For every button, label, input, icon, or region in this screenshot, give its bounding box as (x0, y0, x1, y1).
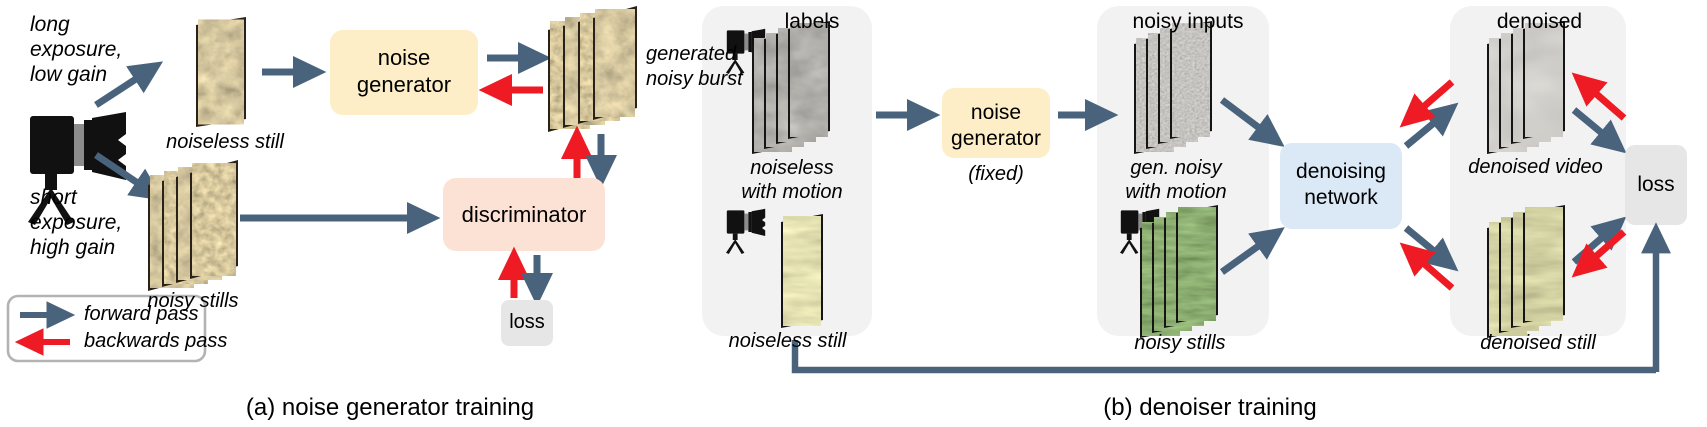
annotation-long-exposure: longexposure,low gain (30, 12, 122, 87)
label-discriminator: discriminator (443, 202, 605, 228)
arrow-denoised-still-to-denoiser-back (1406, 248, 1452, 288)
image-noisy-stills (148, 160, 238, 291)
label-denoising-network: denoisingnetwork (1280, 159, 1402, 211)
caption-noiseless-still: noiseless still (140, 131, 310, 154)
group-title-noisy-inputs: noisy inputs (1113, 10, 1263, 34)
group-title-labels: labels (752, 10, 872, 34)
diagram-canvas (0, 0, 1707, 427)
image-noiseless-still (196, 17, 246, 127)
image-generated-noisy-burst (548, 6, 637, 132)
panel-b-caption: (b) denoiser training (1000, 394, 1420, 422)
panel-a-caption: (a) noise generator training (170, 394, 610, 422)
label-loss-b: loss (1625, 173, 1687, 197)
annotation-short-exposure: shortexposure,high gain (30, 185, 122, 260)
caption-denoised-still: denoised still (1448, 332, 1628, 355)
caption-gen-noisy-with-motion: gen. noisywith motion (1097, 156, 1255, 204)
label-noise-generator-a: noisegenerator (330, 44, 478, 98)
arrow-denoiser-to-denoised-still (1406, 228, 1452, 266)
caption-noiseless-with-motion: noiselesswith motion (713, 156, 871, 204)
caption-noiseless-still-b: noiseless still (705, 330, 870, 353)
caption-noisy-stills-b: noisy stills (1100, 332, 1260, 355)
caption-generated-noisy-burst: generatednoisy burst (646, 42, 743, 92)
label-noise-generator-b: noisegenerator (942, 100, 1050, 152)
sublabel-noise-generator-fixed: (fixed) (942, 163, 1050, 186)
caption-denoised-video: denoised video (1443, 156, 1628, 179)
label-loss-a: loss (501, 311, 553, 334)
legend-label-backwards-pass: backwards pass (84, 330, 227, 353)
legend-label-forward-pass: forward pass (84, 303, 199, 326)
image-noiseless-still-b (781, 214, 823, 328)
figure-root: longexposure,low gain shortexposure,high… (0, 0, 1707, 427)
group-title-denoised: denoised (1462, 10, 1617, 34)
